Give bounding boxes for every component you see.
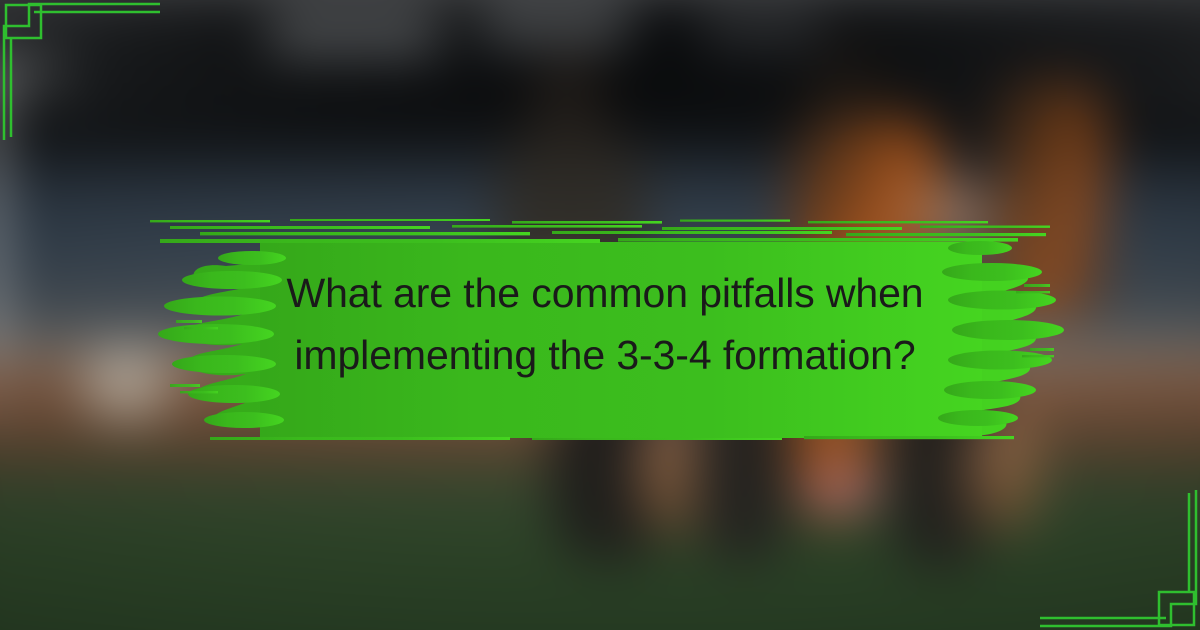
social-share-card: What are the common pitfalls when implem… [0,0,1200,630]
page-title: What are the common pitfalls when implem… [200,262,1010,387]
